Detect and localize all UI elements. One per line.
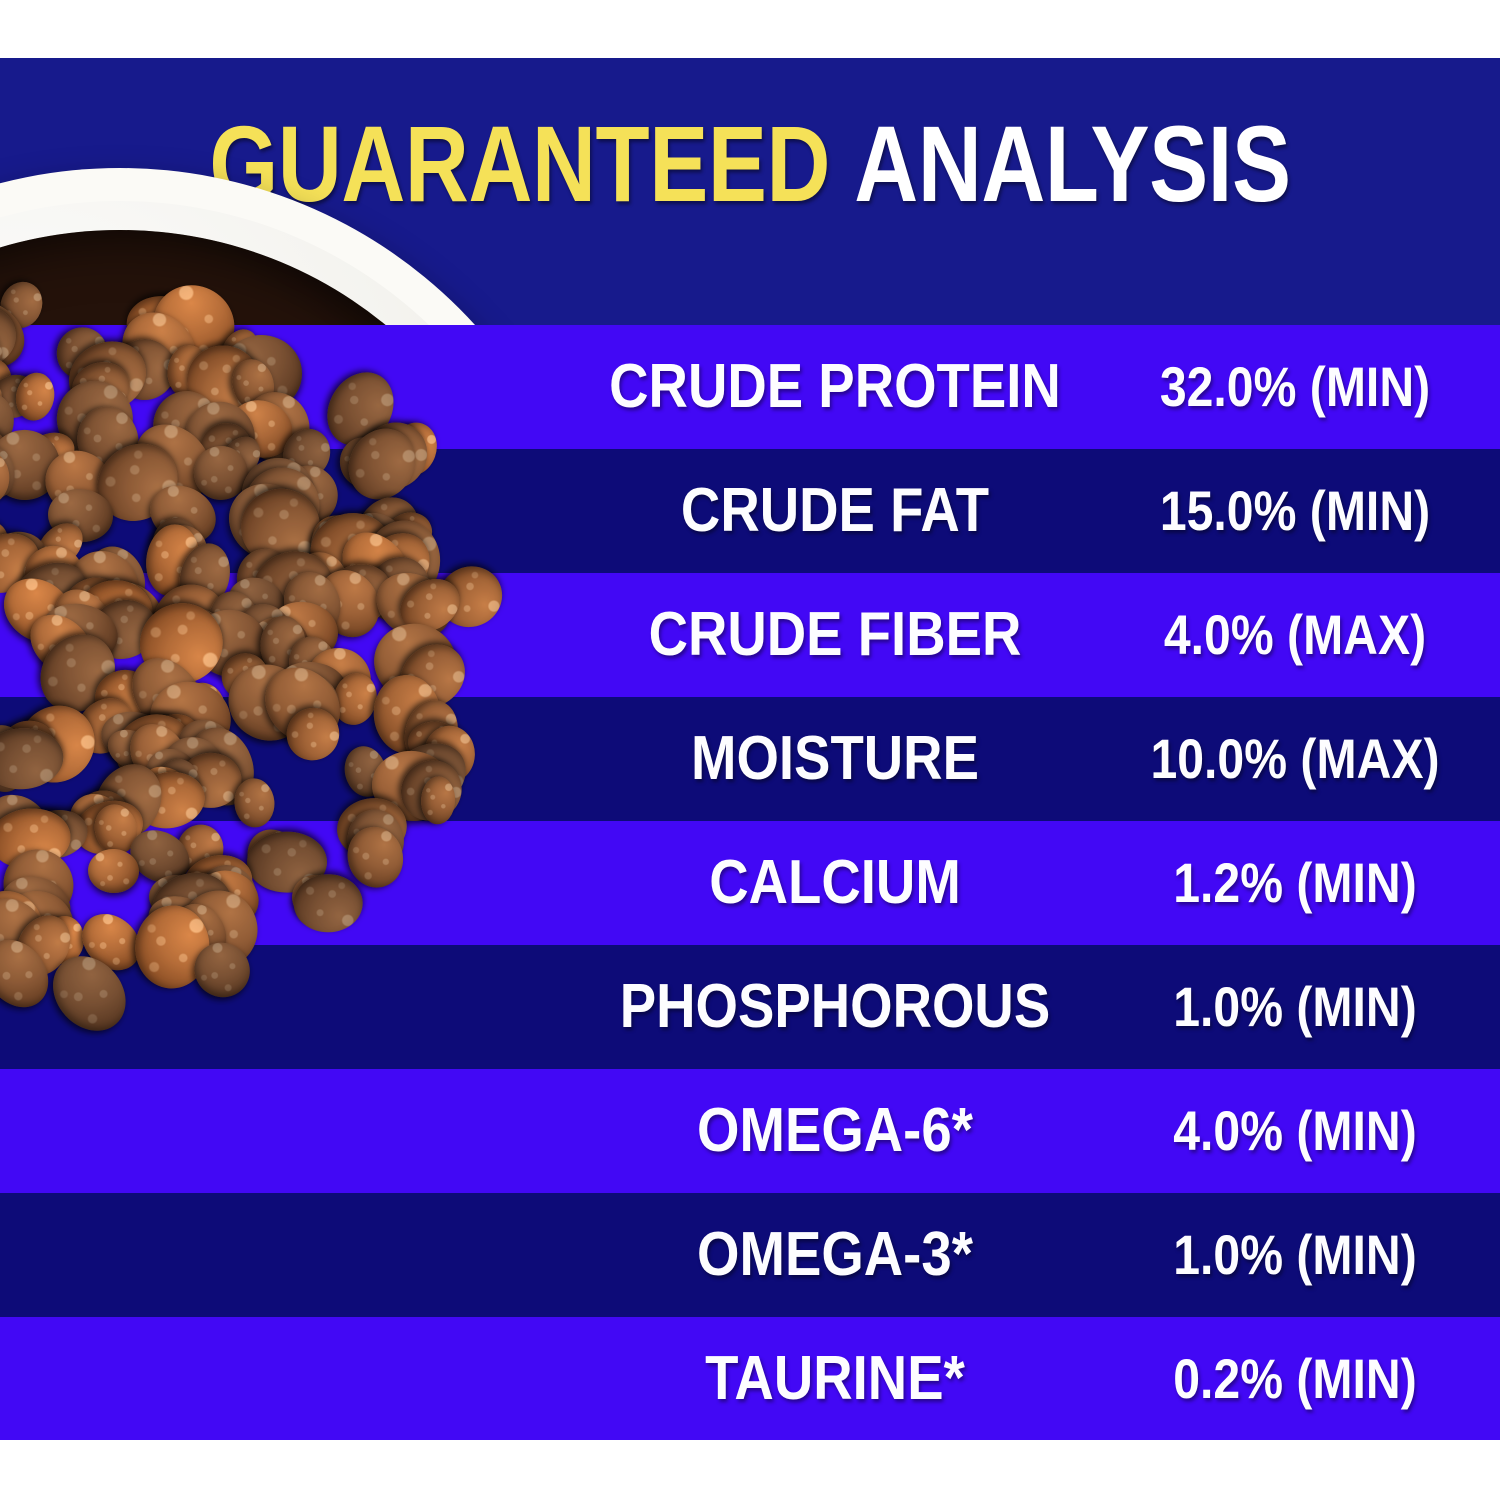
table-row: CALCIUM1.2% (MIN) [0, 821, 1500, 945]
page-title-accent: GUARANTEED [209, 103, 830, 224]
navy-background-panel: GUARANTEED ANALYSIS CRUDE PROTEIN32.0% (… [0, 58, 1500, 1440]
nutrient-value: 15.0% (MIN) [1097, 483, 1493, 539]
nutrient-value: 1.0% (MIN) [1097, 1227, 1493, 1283]
page-title-spacer [830, 103, 854, 224]
table-row: TAURINE*0.2% (MIN) [0, 1317, 1500, 1440]
guaranteed-analysis-table: CRUDE PROTEIN32.0% (MIN)CRUDE FAT15.0% (… [0, 325, 1500, 1440]
page-title: GUARANTEED ANALYSIS [135, 110, 1365, 218]
nutrient-value: 4.0% (MIN) [1097, 1103, 1493, 1159]
table-row: OMEGA-6*4.0% (MIN) [0, 1069, 1500, 1193]
nutrient-value: 4.0% (MAX) [1097, 607, 1493, 663]
table-row: MOISTURE10.0% (MAX) [0, 697, 1500, 821]
nutrient-value: 1.2% (MIN) [1097, 855, 1493, 911]
guaranteed-analysis-panel: GUARANTEED ANALYSIS CRUDE PROTEIN32.0% (… [0, 0, 1500, 1500]
table-row: CRUDE FIBER4.0% (MAX) [0, 573, 1500, 697]
table-row: PHOSPHOROUS1.0% (MIN) [0, 945, 1500, 1069]
nutrient-value: 1.0% (MIN) [1097, 979, 1493, 1035]
table-row: OMEGA-3*1.0% (MIN) [0, 1193, 1500, 1317]
nutrient-value: 0.2% (MIN) [1097, 1351, 1493, 1407]
nutrient-value: 32.0% (MIN) [1097, 359, 1493, 415]
page-title-secondary: ANALYSIS [854, 103, 1290, 224]
table-row: CRUDE PROTEIN32.0% (MIN) [0, 325, 1500, 449]
table-row: CRUDE FAT15.0% (MIN) [0, 449, 1500, 573]
nutrient-value: 10.0% (MAX) [1097, 731, 1493, 787]
